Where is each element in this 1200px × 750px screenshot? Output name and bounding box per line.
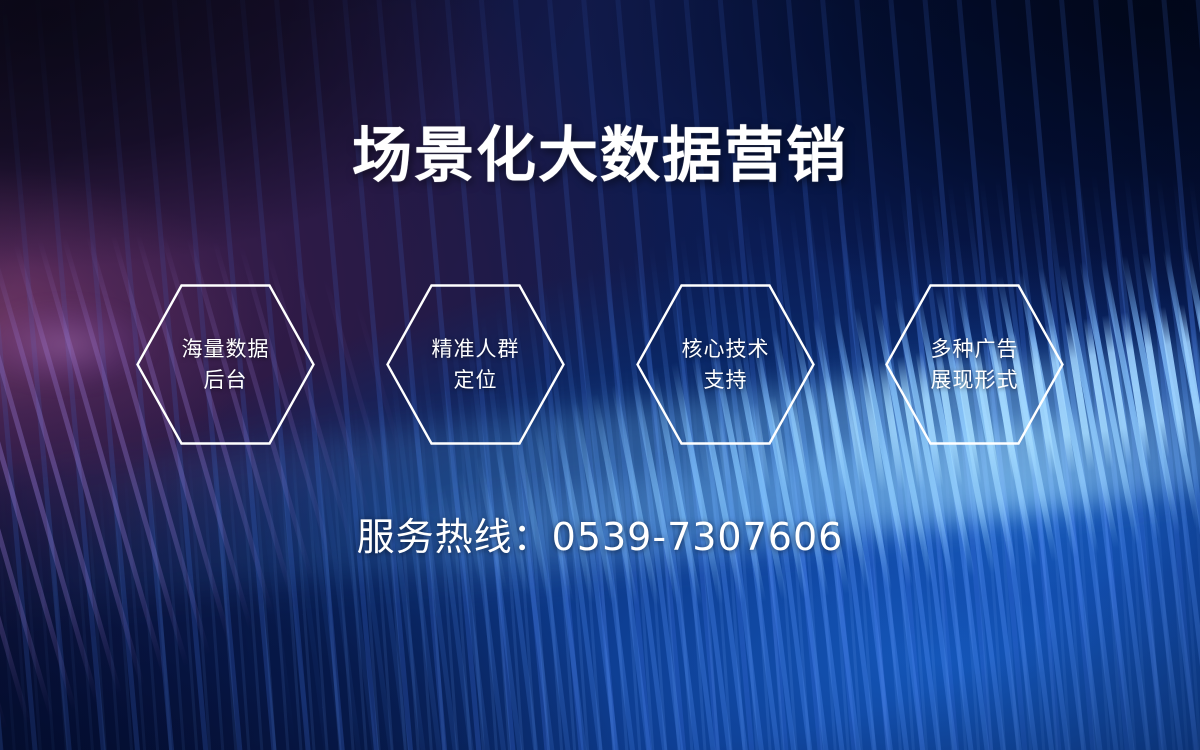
feature-hexagon-row: 海量数据 后台 精准人群 定位 核心技术 支持 <box>0 284 1200 446</box>
feature-label-line1: 精准人群 <box>432 334 520 365</box>
service-hotline[interactable]: 服务热线：0539-7307606 <box>0 515 1200 561</box>
feature-hexagon-label: 精准人群 定位 <box>386 284 565 445</box>
feature-hexagon-label: 核心技术 支持 <box>636 284 815 445</box>
page-title: 场景化大数据营销 <box>0 126 1200 186</box>
marketing-banner: 场景化大数据营销 海量数据 后台 精准人群 定位 <box>0 0 1200 750</box>
feature-hexagon-ad-formats[interactable]: 多种广告 展现形式 <box>885 284 1064 445</box>
feature-hexagon-massive-data[interactable]: 海量数据 后台 <box>136 284 315 445</box>
feature-hexagon-audience-targeting[interactable]: 精准人群 定位 <box>386 284 565 445</box>
feature-label-line2: 支持 <box>704 365 748 396</box>
feature-label-line2: 后台 <box>204 365 248 396</box>
feature-label-line1: 多种广告 <box>931 334 1019 365</box>
feature-label-line2: 定位 <box>454 365 498 396</box>
feature-label-line2: 展现形式 <box>931 365 1019 396</box>
feature-hexagon-label: 海量数据 后台 <box>136 284 315 445</box>
feature-hexagon-label: 多种广告 展现形式 <box>885 284 1064 445</box>
feature-label-line1: 核心技术 <box>682 334 770 365</box>
banner-content: 场景化大数据营销 海量数据 后台 精准人群 定位 <box>0 0 1200 750</box>
feature-label-line1: 海量数据 <box>182 334 270 365</box>
feature-hexagon-core-technology[interactable]: 核心技术 支持 <box>636 284 815 445</box>
